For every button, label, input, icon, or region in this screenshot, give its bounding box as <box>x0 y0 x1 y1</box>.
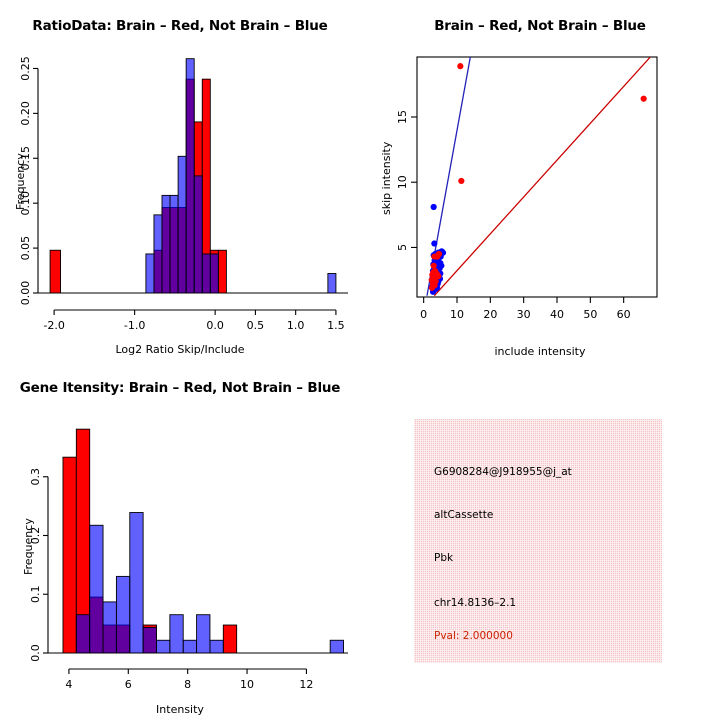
intensity-scatter-canvas: 010203040506051015 <box>360 0 720 360</box>
scatter-point <box>429 285 435 291</box>
intensity-scatter-xlabel: include intensity <box>360 345 720 358</box>
histogram-bar <box>178 156 186 293</box>
histogram-bar <box>76 615 89 653</box>
histogram-bar <box>162 195 170 293</box>
gene-histogram-panel: Gene Itensity: Brain – Red, Not Brain – … <box>0 360 360 720</box>
histogram-bar <box>210 640 223 653</box>
r-graphics-device: RatioData: Brain – Red, Not Brain – Blue… <box>0 0 720 720</box>
x-tick-label: 8 <box>184 678 191 691</box>
scatter-point <box>431 253 437 259</box>
ratio-histogram-xlabel: Log2 Ratio Skip/Include <box>0 343 360 356</box>
probe-id-text: G6908284@J918955@j_at <box>434 466 572 478</box>
histogram-bar <box>154 215 162 293</box>
pval-text: Pval: 2.000000 <box>434 630 513 642</box>
histogram-bar <box>156 640 169 653</box>
y-tick-label: 0.20 <box>19 101 32 126</box>
histogram-bar <box>330 640 343 653</box>
y-tick-label: 0.0 <box>29 644 42 662</box>
y-tick-label: 10 <box>396 175 409 189</box>
x-tick-label: 40 <box>550 308 564 321</box>
x-tick-label: 0 <box>420 308 427 321</box>
x-tick-label: 60 <box>617 308 631 321</box>
y-tick-label: 0.05 <box>19 236 32 261</box>
histogram-bar <box>50 250 60 293</box>
event-type-text: altCassette <box>434 509 493 521</box>
x-tick-label: 4 <box>65 678 72 691</box>
histogram-bar <box>116 576 129 653</box>
histogram-bar <box>90 525 103 653</box>
histogram-bar <box>194 176 202 293</box>
x-tick-label: 0.0 <box>206 319 224 332</box>
histogram-bar <box>183 640 196 653</box>
histogram-bar <box>202 254 210 293</box>
plot-box <box>417 57 657 297</box>
histogram-bar <box>143 627 156 653</box>
histogram-bar <box>210 254 218 293</box>
scatter-point <box>641 96 647 102</box>
scatter-point <box>431 263 437 269</box>
ratio-histogram-panel: RatioData: Brain – Red, Not Brain – Blue… <box>0 0 360 360</box>
histogram-bar <box>63 457 76 653</box>
red-fit-line <box>434 57 650 296</box>
x-tick-label: 50 <box>583 308 597 321</box>
histogram-bar <box>130 513 143 653</box>
x-tick-label: 12 <box>299 678 313 691</box>
x-tick-label: -2.0 <box>43 319 64 332</box>
histogram-bar <box>146 254 154 293</box>
x-tick-label: 10 <box>240 678 254 691</box>
histogram-bar <box>186 59 194 293</box>
histogram-bar <box>223 625 236 653</box>
x-tick-label: 30 <box>517 308 531 321</box>
gene-symbol-text: Pbk <box>434 552 453 564</box>
histogram-bar <box>170 195 178 293</box>
probe-info-panel: G6908284@J918955@j_at altCassette Pbk ch… <box>414 419 662 663</box>
scatter-point <box>457 63 463 69</box>
ratio-histogram-canvas: 0.000.050.100.150.200.25-2.0-1.00.00.51.… <box>0 0 360 360</box>
scatter-point <box>431 240 437 246</box>
y-tick-label: 15 <box>396 110 409 124</box>
y-tick-label: 0.1 <box>29 586 42 604</box>
gene-histogram-xlabel: Intensity <box>0 703 360 716</box>
histogram-bar <box>170 615 183 653</box>
x-tick-label: 0.5 <box>247 319 265 332</box>
gene-histogram-ylabel: Frequency <box>22 518 35 575</box>
histogram-bar <box>218 250 226 293</box>
intensity-scatter-ylabel: skip intensity <box>380 142 393 215</box>
intensity-scatter-panel: Brain – Red, Not Brain – Blue 0102030405… <box>360 0 720 360</box>
x-tick-label: 10 <box>450 308 464 321</box>
gene-histogram-canvas: 0.00.10.20.34681012 <box>0 360 360 720</box>
scatter-point <box>458 178 464 184</box>
ratio-histogram-ylabel: Frequency <box>14 153 27 210</box>
y-tick-label: 0.3 <box>29 468 42 486</box>
y-tick-label: 0.00 <box>19 281 32 306</box>
histogram-bar <box>197 615 210 653</box>
y-tick-label: 0.25 <box>19 56 32 81</box>
x-tick-label: 20 <box>483 308 497 321</box>
histogram-bar <box>103 602 116 653</box>
x-tick-label: -1.0 <box>124 319 145 332</box>
x-tick-label: 6 <box>125 678 132 691</box>
scatter-point <box>431 204 437 210</box>
y-tick-label: 5 <box>396 244 409 251</box>
locus-text: chr14.8136–2.1 <box>434 597 516 609</box>
histogram-bar <box>328 274 336 293</box>
x-tick-label: 1.0 <box>287 319 305 332</box>
x-tick-label: 1.5 <box>327 319 345 332</box>
